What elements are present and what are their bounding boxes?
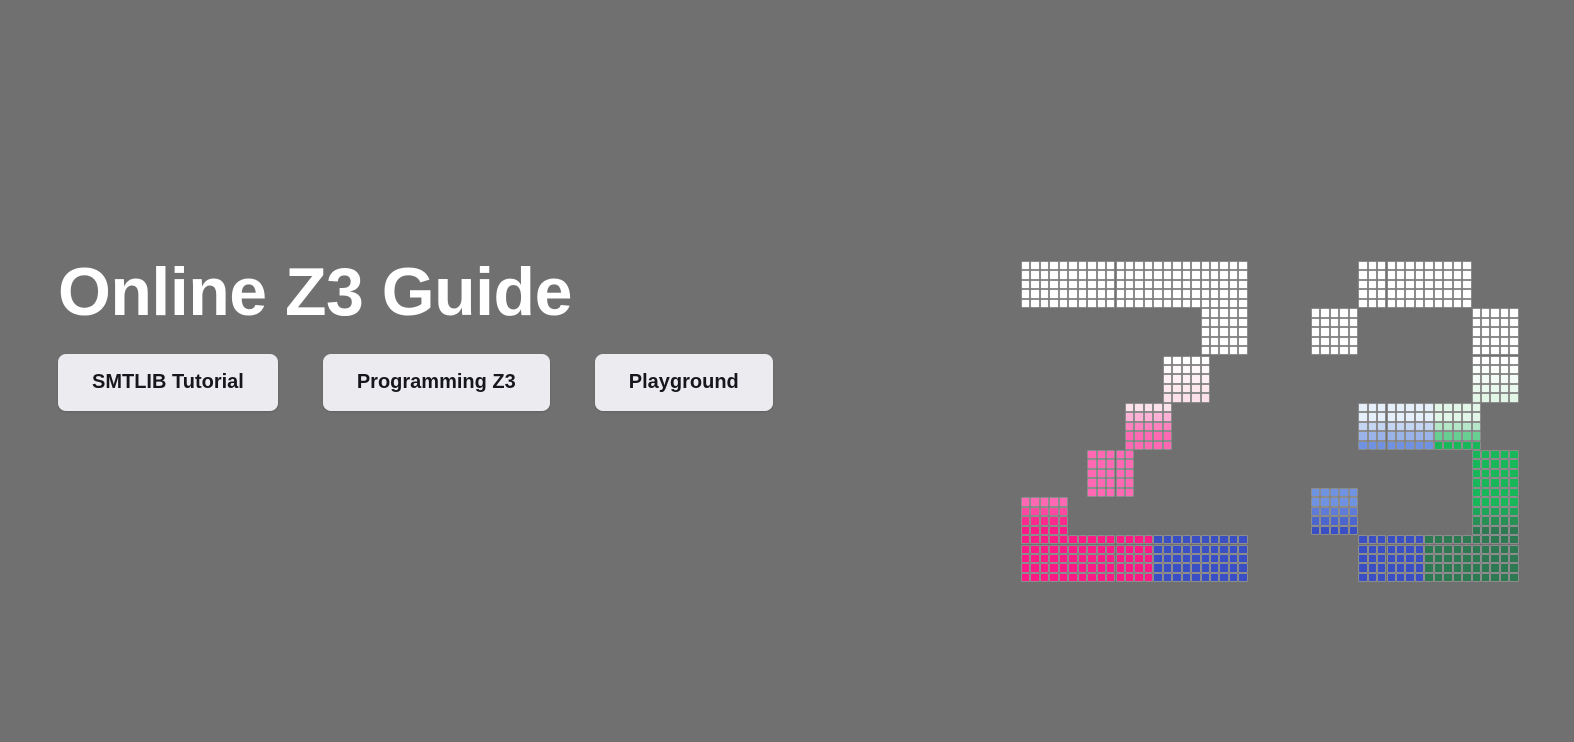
logo-pixel (1040, 507, 1049, 516)
logo-pixel (1163, 356, 1172, 365)
logo-pixel (1191, 365, 1200, 374)
logo-pixel (1182, 393, 1191, 402)
logo-pixel (1481, 374, 1490, 383)
logo-pixel (1144, 261, 1153, 270)
logo-pixel (1238, 261, 1247, 270)
logo-pixel (1163, 289, 1172, 298)
logo-pixel (1481, 526, 1490, 535)
logo-pixel (1339, 318, 1348, 327)
logo-pixel (1163, 280, 1172, 289)
logo-pixel (1405, 412, 1414, 421)
logo-pixel (1311, 318, 1320, 327)
logo-pixel (1490, 308, 1499, 317)
logo-pixel (1509, 346, 1518, 355)
logo-pixel (1153, 403, 1162, 412)
logo-pixel (1182, 289, 1191, 298)
logo-pixel (1191, 573, 1200, 582)
logo-pixel (1097, 488, 1106, 497)
logo-pixel (1172, 573, 1181, 582)
logo-pixel (1377, 299, 1386, 308)
logo-pixel (1358, 270, 1367, 279)
logo-pixel (1500, 356, 1509, 365)
logo-pixel (1368, 563, 1377, 572)
logo-pixel (1424, 431, 1433, 440)
smtlib-tutorial-button[interactable]: SMTLIB Tutorial (58, 354, 278, 411)
logo-pixel (1396, 403, 1405, 412)
logo-pixel (1415, 563, 1424, 572)
logo-pixel (1387, 563, 1396, 572)
hero-section: Online Z3 Guide SMTLIB Tutorial Programm… (0, 0, 1574, 742)
logo-pixel (1219, 289, 1228, 298)
logo-pixel (1405, 535, 1414, 544)
logo-pixel (1415, 403, 1424, 412)
logo-pixel (1509, 516, 1518, 525)
logo-pixel (1238, 308, 1247, 317)
logo-pixel (1472, 374, 1481, 383)
logo-pixel (1481, 545, 1490, 554)
logo-pixel (1068, 270, 1077, 279)
logo-pixel (1087, 469, 1096, 478)
logo-pixel (1311, 308, 1320, 317)
logo-pixel (1368, 573, 1377, 582)
logo-pixel (1163, 261, 1172, 270)
logo-pixel (1163, 554, 1172, 563)
logo-pixel (1405, 441, 1414, 450)
logo-pixel (1021, 299, 1030, 308)
logo-pixel (1443, 412, 1452, 421)
logo-pixel (1059, 554, 1068, 563)
logo-pixel (1087, 299, 1096, 308)
logo-pixel (1415, 412, 1424, 421)
logo-pixel (1106, 469, 1115, 478)
logo-pixel (1330, 327, 1339, 336)
logo-pixel (1481, 554, 1490, 563)
logo-pixel (1134, 412, 1143, 421)
logo-pixel (1040, 545, 1049, 554)
logo-pixel (1229, 346, 1238, 355)
logo-pixel (1097, 261, 1106, 270)
logo-pixel (1472, 573, 1481, 582)
logo-pixel (1191, 270, 1200, 279)
logo-pixel (1481, 573, 1490, 582)
logo-pixel (1144, 299, 1153, 308)
logo-pixel (1144, 431, 1153, 440)
logo-pixel (1021, 289, 1030, 298)
logo-pixel (1405, 261, 1414, 270)
logo-pixel (1472, 526, 1481, 535)
logo-pixel (1509, 450, 1518, 459)
logo-pixel (1339, 516, 1348, 525)
logo-pixel (1481, 450, 1490, 459)
logo-pixel (1030, 516, 1039, 525)
logo-pixel (1462, 554, 1471, 563)
logo-pixel (1087, 478, 1096, 487)
logo-pixel (1040, 261, 1049, 270)
logo-pixel (1434, 422, 1443, 431)
logo-pixel (1219, 327, 1228, 336)
logo-pixel (1125, 535, 1134, 544)
logo-pixel (1229, 299, 1238, 308)
logo-pixel (1238, 545, 1247, 554)
logo-pixel (1405, 554, 1414, 563)
logo-pixel (1049, 280, 1058, 289)
logo-pixel (1509, 563, 1518, 572)
logo-pixel (1059, 507, 1068, 516)
logo-pixel (1387, 280, 1396, 289)
logo-pixel (1311, 516, 1320, 525)
logo-pixel (1116, 563, 1125, 572)
logo-pixel (1462, 573, 1471, 582)
logo-pixel (1377, 535, 1386, 544)
logo-pixel (1387, 270, 1396, 279)
logo-pixel (1472, 545, 1481, 554)
logo-pixel (1481, 516, 1490, 525)
logo-pixel (1377, 545, 1386, 554)
logo-pixel (1106, 535, 1115, 544)
logo-pixel (1219, 261, 1228, 270)
logo-pixel (1311, 337, 1320, 346)
logo-pixel (1500, 554, 1509, 563)
logo-pixel (1405, 431, 1414, 440)
logo-pixel (1500, 507, 1509, 516)
logo-pixel (1472, 393, 1481, 402)
logo-pixel (1500, 365, 1509, 374)
logo-pixel (1144, 270, 1153, 279)
logo-pixel (1509, 573, 1518, 582)
logo-pixel (1153, 563, 1162, 572)
logo-pixel (1134, 573, 1143, 582)
logo-pixel (1339, 327, 1348, 336)
logo-pixel (1500, 327, 1509, 336)
logo-pixel (1358, 554, 1367, 563)
logo-pixel (1339, 507, 1348, 516)
logo-pixel (1472, 497, 1481, 506)
logo-pixel (1500, 573, 1509, 582)
logo-pixel (1330, 488, 1339, 497)
logo-pixel (1219, 554, 1228, 563)
logo-pixel (1500, 308, 1509, 317)
logo-pixel (1049, 299, 1058, 308)
logo-pixel (1210, 563, 1219, 572)
logo-pixel (1509, 535, 1518, 544)
logo-pixel (1030, 507, 1039, 516)
logo-pixel (1490, 459, 1499, 468)
logo-pixel (1396, 422, 1405, 431)
logo-pixel (1040, 563, 1049, 572)
logo-pixel (1201, 356, 1210, 365)
logo-pixel (1377, 403, 1386, 412)
logo-pixel (1030, 526, 1039, 535)
logo-pixel (1500, 497, 1509, 506)
logo-pixel (1490, 450, 1499, 459)
logo-pixel (1125, 554, 1134, 563)
logo-pixel (1472, 346, 1481, 355)
logo-pixel (1415, 422, 1424, 431)
logo-pixel (1415, 261, 1424, 270)
logo-pixel (1078, 280, 1087, 289)
logo-pixel (1434, 261, 1443, 270)
logo-pixel (1201, 554, 1210, 563)
logo-pixel (1405, 270, 1414, 279)
hero-text-block: Online Z3 Guide SMTLIB Tutorial Programm… (58, 258, 958, 411)
logo-pixel (1405, 289, 1414, 298)
logo-pixel (1163, 384, 1172, 393)
logo-pixel (1210, 346, 1219, 355)
logo-pixel (1238, 280, 1247, 289)
logo-pixel (1229, 289, 1238, 298)
logo-pixel (1415, 431, 1424, 440)
logo-pixel (1509, 356, 1518, 365)
logo-pixel (1125, 469, 1134, 478)
logo-pixel (1481, 337, 1490, 346)
logo-pixel (1049, 526, 1058, 535)
logo-pixel (1500, 374, 1509, 383)
logo-pixel (1106, 270, 1115, 279)
logo-pixel (1219, 346, 1228, 355)
logo-pixel (1049, 270, 1058, 279)
logo-pixel (1238, 563, 1247, 572)
logo-pixel (1509, 554, 1518, 563)
playground-button[interactable]: Playground (595, 354, 773, 411)
logo-pixel (1144, 563, 1153, 572)
programming-z3-button[interactable]: Programming Z3 (323, 354, 550, 411)
logo-pixel (1387, 431, 1396, 440)
logo-pixel (1453, 441, 1462, 450)
logo-pixel (1368, 535, 1377, 544)
logo-pixel (1106, 280, 1115, 289)
logo-pixel (1087, 563, 1096, 572)
logo-pixel (1377, 270, 1386, 279)
logo-pixel (1087, 545, 1096, 554)
logo-pixel (1358, 573, 1367, 582)
logo-pixel (1201, 374, 1210, 383)
logo-pixel (1163, 431, 1172, 440)
logo-pixel (1339, 526, 1348, 535)
logo-pixel (1201, 535, 1210, 544)
logo-pixel (1059, 516, 1068, 525)
logo-pixel (1387, 412, 1396, 421)
logo-pixel (1030, 563, 1039, 572)
logo-pixel (1462, 422, 1471, 431)
logo-pixel (1144, 535, 1153, 544)
logo-pixel (1040, 526, 1049, 535)
logo-pixel (1201, 318, 1210, 327)
logo-pixel (1387, 535, 1396, 544)
logo-pixel (1481, 308, 1490, 317)
logo-pixel (1068, 535, 1077, 544)
logo-pixel (1387, 261, 1396, 270)
logo-pixel (1509, 393, 1518, 402)
logo-pixel (1405, 422, 1414, 431)
logo-pixel (1509, 365, 1518, 374)
logo-pixel (1097, 450, 1106, 459)
logo-pixel (1210, 289, 1219, 298)
logo-pixel (1106, 554, 1115, 563)
logo-pixel (1210, 280, 1219, 289)
logo-pixel (1462, 441, 1471, 450)
logo-pixel (1424, 270, 1433, 279)
logo-pixel (1059, 573, 1068, 582)
logo-pixel (1472, 441, 1481, 450)
logo-pixel (1453, 535, 1462, 544)
logo-pixel (1106, 545, 1115, 554)
logo-pixel (1172, 393, 1181, 402)
logo-pixel (1030, 299, 1039, 308)
logo-pixel (1163, 545, 1172, 554)
logo-pixel (1191, 261, 1200, 270)
logo-pixel (1490, 337, 1499, 346)
logo-pixel (1443, 422, 1452, 431)
logo-pixel (1021, 270, 1030, 279)
logo-pixel (1125, 563, 1134, 572)
logo-pixel (1125, 441, 1134, 450)
logo-pixel (1509, 488, 1518, 497)
logo-pixel (1434, 563, 1443, 572)
logo-pixel (1377, 280, 1386, 289)
logo-pixel (1424, 545, 1433, 554)
logo-pixel (1049, 261, 1058, 270)
logo-pixel (1358, 299, 1367, 308)
logo-pixel (1472, 507, 1481, 516)
logo-pixel (1078, 261, 1087, 270)
logo-pixel (1377, 261, 1386, 270)
logo-pixel (1396, 563, 1405, 572)
logo-pixel (1144, 545, 1153, 554)
logo-pixel (1500, 337, 1509, 346)
logo-pixel (1443, 431, 1452, 440)
logo-pixel (1059, 299, 1068, 308)
logo-pixel (1219, 563, 1228, 572)
logo-pixel (1377, 412, 1386, 421)
logo-pixel (1201, 280, 1210, 289)
logo-pixel (1311, 488, 1320, 497)
logo-pixel (1191, 554, 1200, 563)
logo-pixel (1182, 554, 1191, 563)
logo-pixel (1358, 280, 1367, 289)
logo-pixel (1087, 270, 1096, 279)
logo-pixel (1163, 573, 1172, 582)
logo-pixel (1396, 545, 1405, 554)
logo-pixel (1068, 554, 1077, 563)
logo-pixel (1500, 393, 1509, 402)
logo-pixel (1358, 535, 1367, 544)
logo-pixel (1134, 299, 1143, 308)
logo-pixel (1049, 545, 1058, 554)
logo-pixel (1172, 535, 1181, 544)
logo-pixel (1443, 545, 1452, 554)
logo-pixel (1472, 478, 1481, 487)
logo-pixel (1377, 289, 1386, 298)
logo-pixel (1125, 270, 1134, 279)
logo-pixel (1068, 289, 1077, 298)
logo-pixel (1443, 270, 1452, 279)
logo-pixel (1030, 545, 1039, 554)
logo-pixel (1500, 384, 1509, 393)
logo-pixel (1201, 270, 1210, 279)
logo-pixel (1087, 450, 1096, 459)
logo-pixel (1443, 554, 1452, 563)
logo-pixel (1443, 299, 1452, 308)
logo-pixel (1125, 289, 1134, 298)
logo-pixel (1078, 545, 1087, 554)
logo-pixel (1311, 507, 1320, 516)
logo-pixel (1500, 516, 1509, 525)
logo-pixel (1210, 337, 1219, 346)
logo-pixel (1021, 261, 1030, 270)
logo-pixel (1030, 497, 1039, 506)
logo-pixel (1106, 488, 1115, 497)
logo-pixel (1453, 431, 1462, 440)
logo-pixel (1443, 563, 1452, 572)
logo-pixel (1368, 270, 1377, 279)
logo-pixel (1059, 497, 1068, 506)
logo-pixel (1219, 573, 1228, 582)
logo-pixel (1509, 337, 1518, 346)
logo-pixel (1229, 554, 1238, 563)
logo-pixel (1396, 554, 1405, 563)
logo-pixel (1238, 318, 1247, 327)
logo-pixel (1238, 554, 1247, 563)
logo-pixel (1040, 270, 1049, 279)
logo-pixel (1087, 554, 1096, 563)
logo-pixel (1172, 270, 1181, 279)
logo-pixel (1078, 573, 1087, 582)
logo-pixel (1134, 545, 1143, 554)
logo-pixel (1443, 535, 1452, 544)
logo-pixel (1481, 318, 1490, 327)
logo-pixel (1481, 393, 1490, 402)
logo-pixel (1500, 535, 1509, 544)
logo-pixel (1116, 270, 1125, 279)
logo-pixel (1339, 337, 1348, 346)
logo-pixel (1320, 346, 1329, 355)
logo-pixel (1106, 299, 1115, 308)
logo-pixel (1358, 403, 1367, 412)
logo-pixel (1021, 526, 1030, 535)
logo-pixel (1116, 261, 1125, 270)
logo-pixel (1481, 459, 1490, 468)
logo-pixel (1481, 535, 1490, 544)
logo-pixel (1396, 573, 1405, 582)
logo-pixel (1201, 327, 1210, 336)
logo-pixel (1462, 261, 1471, 270)
logo-pixel (1509, 384, 1518, 393)
logo-pixel (1040, 554, 1049, 563)
logo-pixel (1030, 573, 1039, 582)
logo-pixel (1238, 299, 1247, 308)
logo-pixel (1172, 280, 1181, 289)
logo-pixel (1358, 261, 1367, 270)
logo-pixel (1415, 573, 1424, 582)
logo-pixel (1219, 318, 1228, 327)
logo-pixel (1424, 289, 1433, 298)
logo-pixel (1462, 289, 1471, 298)
logo-pixel (1490, 327, 1499, 336)
logo-pixel (1153, 289, 1162, 298)
logo-pixel (1434, 412, 1443, 421)
logo-pixel (1210, 545, 1219, 554)
logo-pixel (1434, 545, 1443, 554)
logo-pixel (1153, 535, 1162, 544)
logo-pixel (1424, 280, 1433, 289)
logo-pixel (1424, 441, 1433, 450)
logo-pixel (1387, 554, 1396, 563)
logo-pixel (1153, 441, 1162, 450)
logo-pixel (1125, 431, 1134, 440)
logo-pixel (1210, 318, 1219, 327)
logo-pixel (1238, 270, 1247, 279)
logo-pixel (1229, 535, 1238, 544)
